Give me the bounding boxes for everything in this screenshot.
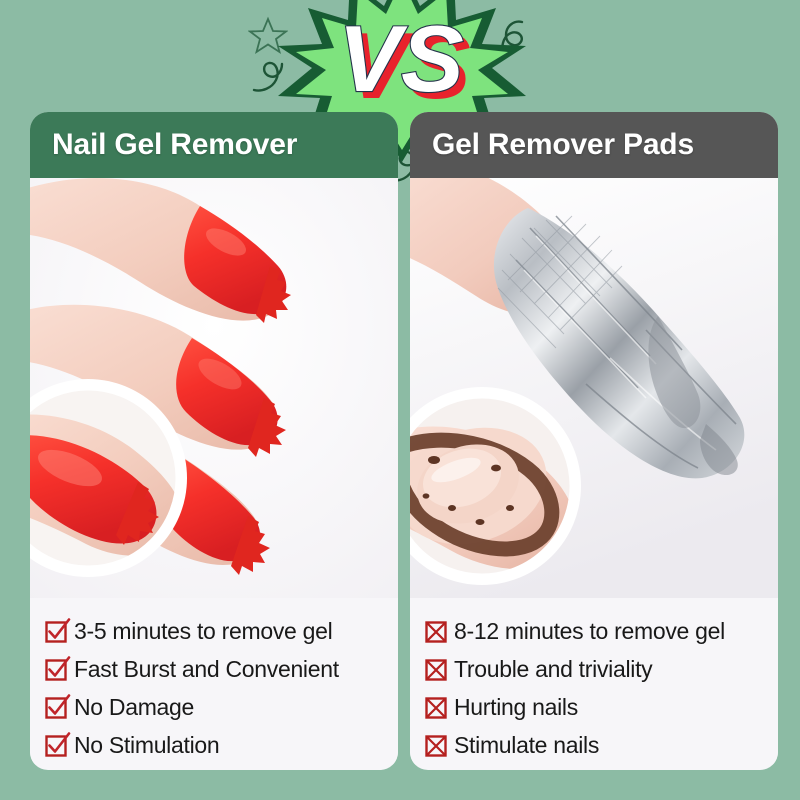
feature-label: Trouble and triviality [454,656,652,683]
checkbox-crossed-icon [424,694,450,720]
feature-label: Hurting nails [454,694,578,721]
card-header-left: Nail Gel Remover [30,112,398,178]
feature-item: Hurting nails [424,688,778,726]
checkbox-crossed-icon [424,732,450,758]
comparison-card-nail-gel-remover: Nail Gel Remover [30,112,398,770]
card-title-right: Gel Remover Pads [432,128,694,162]
comparison-infographic: VS VS Nail Gel Remover [0,0,800,800]
feature-item: Stimulate nails [424,726,778,764]
feature-item: No Stimulation [44,726,398,764]
comparison-card-gel-remover-pads: Gel Remover Pads [410,112,778,770]
feature-item: Trouble and triviality [424,650,778,688]
product-photo-gel-remover-pads [410,178,778,598]
checkbox-checked-icon [44,694,70,720]
card-header-right: Gel Remover Pads [410,112,778,178]
checkbox-checked-icon [44,732,70,758]
checkbox-checked-icon [44,618,70,644]
feature-label: 8-12 minutes to remove gel [454,618,725,645]
feature-label: No Damage [74,694,194,721]
checkbox-checked-icon [44,656,70,682]
feature-label: Stimulate nails [454,732,599,759]
card-title-left: Nail Gel Remover [52,128,297,162]
feature-item: 8-12 minutes to remove gel [424,612,778,650]
feature-item: No Damage [44,688,398,726]
feature-label: No Stimulation [74,732,219,759]
feature-list-left: 3-5 minutes to remove gel Fast Burst and… [30,598,398,764]
checkbox-crossed-icon [424,656,450,682]
feature-item: Fast Burst and Convenient [44,650,398,688]
feature-list-right: 8-12 minutes to remove gel Trouble and t… [410,598,778,764]
vs-text: VS [338,6,463,111]
feature-label: Fast Burst and Convenient [74,656,339,683]
product-photo-nail-gel-remover [30,178,398,598]
feature-label: 3-5 minutes to remove gel [74,618,332,645]
feature-item: 3-5 minutes to remove gel [44,612,398,650]
checkbox-crossed-icon [424,618,450,644]
